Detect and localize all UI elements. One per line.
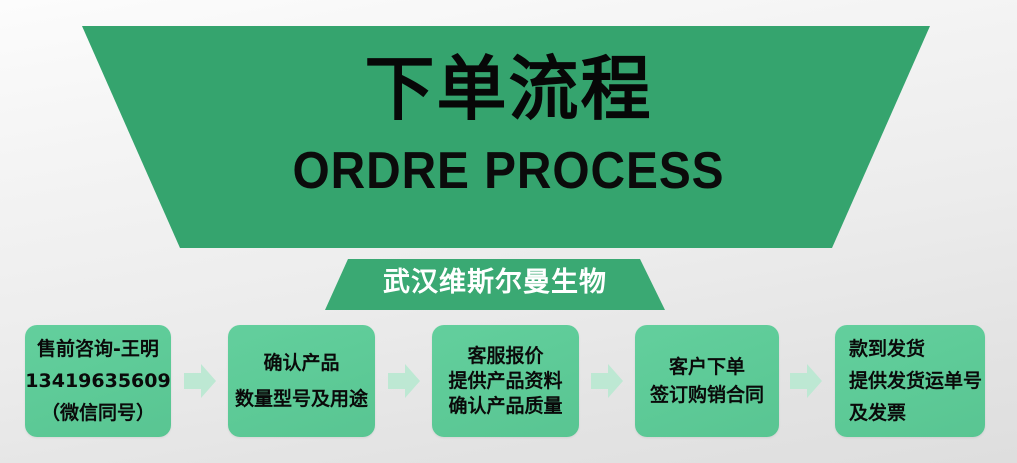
arrow-right-icon [591, 362, 623, 400]
arrow-right-polygon [591, 364, 623, 398]
arrow-right-icon [790, 362, 822, 400]
step-line: 客户下单 [669, 353, 745, 381]
hero-trapezoid-shape [0, 0, 1017, 260]
process-step-box-1[interactable]: 售前咨询-王明 13419635609 （微信同号） [25, 325, 171, 437]
arrow-right-polygon [388, 364, 420, 398]
process-step-box-4[interactable]: 客户下单 签订购销合同 [635, 325, 779, 437]
step-line: 签订购销合同 [650, 381, 764, 409]
order-process-infographic: 下单流程 ORDRE PROCESS 武汉维斯尔曼生物 售前咨询-王明 1341… [0, 0, 1017, 463]
step-line: 售前咨询-王明 [37, 333, 159, 365]
process-step-box-3[interactable]: 客服报价 提供产品资料 确认产品质量 [432, 325, 579, 437]
process-step-text-5: 款到发货 提供发货运单号 及发票 [841, 333, 979, 429]
step-line: 提供发货运单号 [849, 365, 982, 397]
company-name-label: 武汉维斯尔曼生物 [322, 266, 668, 300]
process-step-text-1: 售前咨询-王明 13419635609 （微信同号） [25, 333, 170, 429]
step-line: 及发票 [849, 397, 906, 429]
process-step-box-5[interactable]: 款到发货 提供发货运单号 及发票 [835, 325, 985, 437]
process-step-box-2[interactable]: 确认产品 数量型号及用途 [228, 325, 375, 437]
step-line: 确认产品 [263, 345, 339, 381]
arrow-right-polygon [790, 364, 822, 398]
step-line: 客服报价 [467, 344, 543, 369]
page-title: 下单流程 [0, 50, 1017, 128]
arrow-right-polygon [184, 364, 216, 398]
step-line: 确认产品质量 [448, 394, 562, 419]
process-step-text-4: 客户下单 签订购销合同 [650, 353, 764, 409]
process-step-text-2: 确认产品 数量型号及用途 [235, 345, 368, 417]
step-line: 数量型号及用途 [235, 381, 368, 417]
step-line: 提供产品资料 [448, 369, 562, 394]
step-line: 13419635609 [25, 365, 170, 397]
step-line: （微信同号） [41, 397, 155, 429]
process-step-text-3: 客服报价 提供产品资料 确认产品质量 [448, 344, 562, 419]
arrow-right-icon [184, 362, 216, 400]
arrow-right-icon [388, 362, 420, 400]
step-line: 款到发货 [849, 333, 925, 365]
page-subtitle: ORDRE PROCESS [41, 142, 977, 200]
